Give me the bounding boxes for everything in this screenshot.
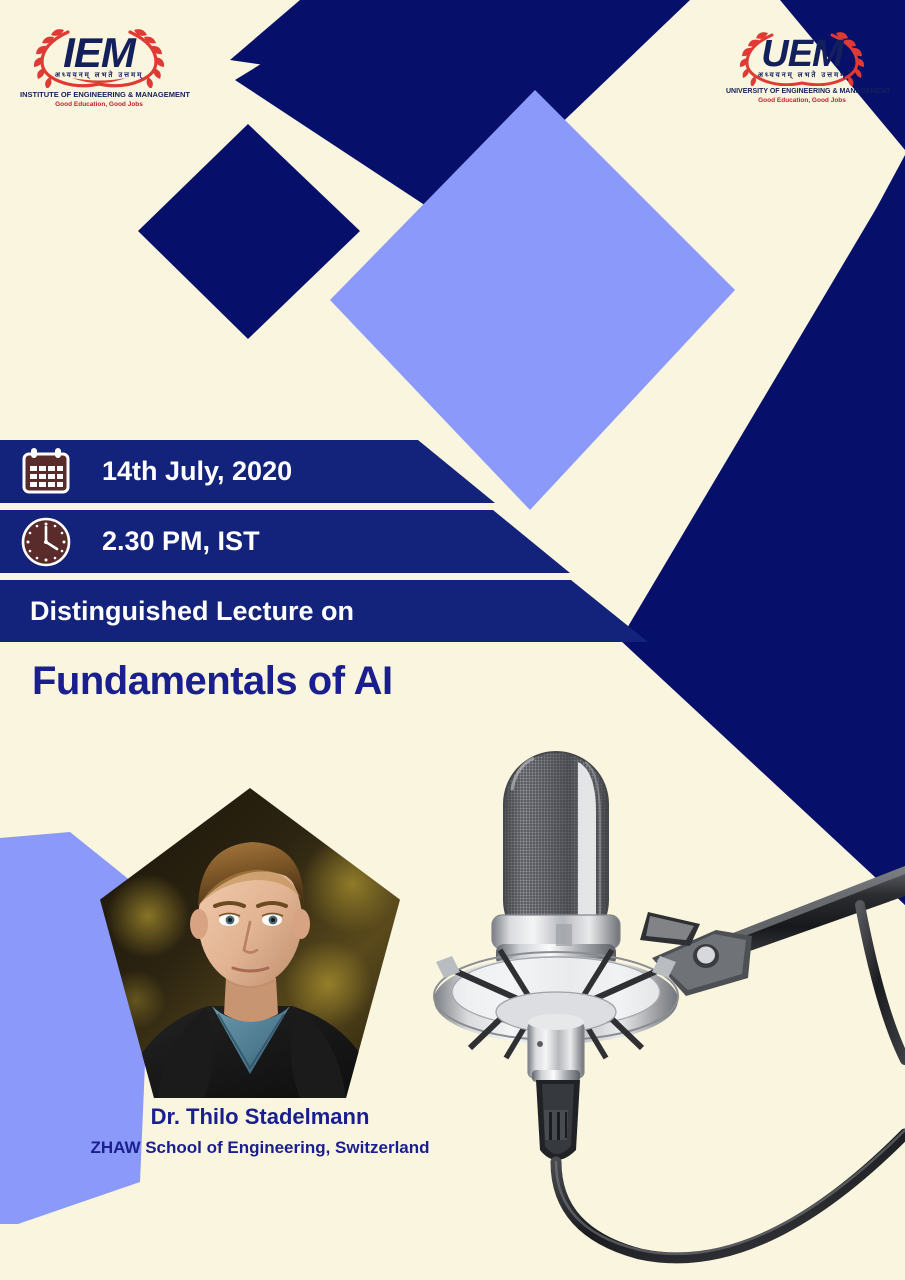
- page-title: Fundamentals of AI: [32, 659, 393, 704]
- poster-canvas: IEM अध्ययनम् लभते उत्तमम् INSTITUTE OF E…: [0, 0, 905, 1280]
- speaker-affiliation: ZHAW School of Engineering, Switzerland: [0, 1138, 520, 1158]
- iem-lettermark: IEM: [20, 32, 178, 74]
- uem-wreath-icon: UEM अध्ययनम् लभते उत्तमम्: [726, 30, 878, 86]
- iem-wreath-icon: IEM अध्ययनम् लभते उत्तमम्: [20, 26, 178, 88]
- iem-logo: IEM अध्ययनम् लभते उत्तमम् INSTITUTE OF E…: [20, 26, 178, 108]
- uem-devanagari: अध्ययनम् लभते उत्तमम्: [726, 71, 878, 80]
- mic-base-barrel: [528, 1014, 584, 1082]
- clock-icon: [20, 516, 72, 568]
- uem-lettermark: UEM: [726, 35, 878, 73]
- date-text: 14th July, 2020: [102, 456, 292, 487]
- time-text: 2.30 PM, IST: [102, 526, 260, 557]
- date-bar: 14th July, 2020: [0, 440, 495, 503]
- lecture-bar: Distinguished Lecture on: [0, 580, 648, 642]
- speaker-name: Dr. Thilo Stadelmann: [0, 1104, 520, 1130]
- calendar-icon: [20, 446, 72, 498]
- iem-tagline: Good Education, Good Jobs: [20, 101, 178, 108]
- lecture-text: Distinguished Lecture on: [30, 596, 354, 627]
- uem-fullname: UNIVERSITY OF ENGINEERING & MANAGEMENT: [726, 88, 878, 95]
- uem-tagline: Good Education, Good Jobs: [726, 97, 878, 104]
- mic-xlr-connector: [536, 1080, 580, 1160]
- iem-devanagari: अध्ययनम् लभते उत्तमम्: [20, 71, 178, 80]
- iem-fullname: INSTITUTE OF ENGINEERING & MANAGEMENT: [20, 90, 178, 99]
- time-bar: 2.30 PM, IST: [0, 510, 570, 573]
- uem-logo: UEM अध्ययनम् लभते उत्तमम् UNIVERSITY OF …: [726, 30, 878, 104]
